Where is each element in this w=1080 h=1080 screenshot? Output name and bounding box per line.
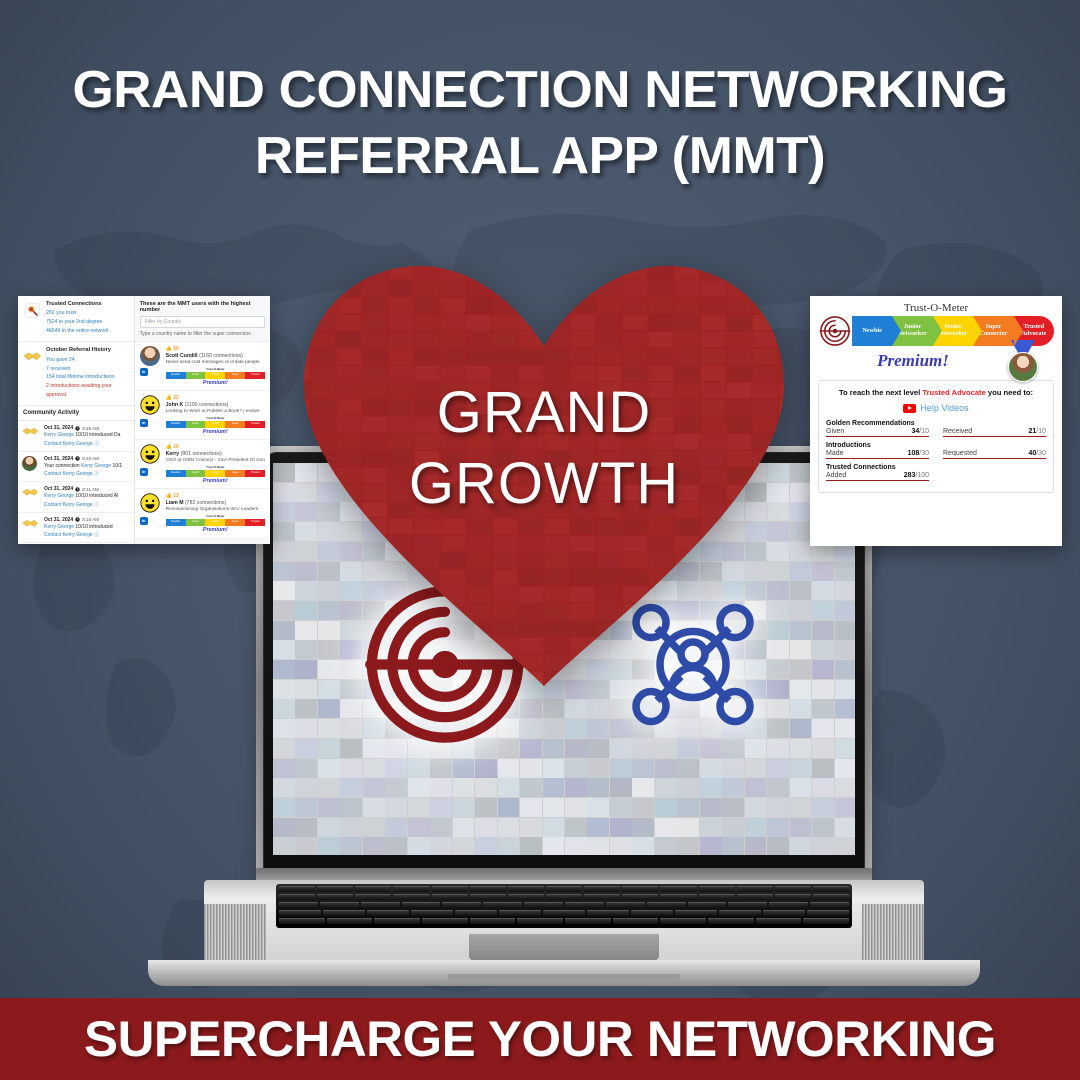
mini-level-segment: Newbie	[166, 372, 186, 379]
app-screenshot-right-trust-o-meter: Trust-O-Meter NewbieJuniorNetworkerSenio…	[810, 296, 1062, 546]
trusted-connections-icon	[22, 301, 42, 336]
mini-level-segment: Senior	[205, 372, 225, 379]
mini-level-segment: Newbie	[166, 421, 186, 428]
laptop-speaker-left	[204, 904, 266, 962]
stat-value: 40/30	[1028, 450, 1046, 457]
activity-text: Your connection Kerry George 10/1	[44, 462, 130, 471]
activity-text: Kerry George 10/10 introduced Al	[44, 492, 130, 501]
laptop-keyboard	[276, 884, 852, 928]
activity-contact-link[interactable]: Contact Kerry George ⓘ	[44, 440, 130, 447]
goal-suffix: you need to:	[986, 388, 1033, 397]
linkedin-icon[interactable]: in	[140, 419, 148, 427]
referral-history-line: 7 received	[46, 365, 130, 374]
super-connector-tagline: Looking to Write or Publish a Book? | ev…	[166, 409, 265, 414]
left-sidebar-column: Trusted Connections 282 you trust 7524 i…	[18, 296, 135, 544]
mini-level-segment: Trusted	[245, 372, 265, 379]
mini-level-segment: Junior	[186, 372, 206, 379]
super-connector-tagline: Never send cold messages or irritate peo…	[166, 360, 265, 365]
activity-contact-link[interactable]: Contact Kerry George ⓘ	[44, 531, 130, 538]
activity-contact-link[interactable]: Contact Kerry George ⓘ	[44, 470, 130, 477]
activity-text: Kerry George 10/10 introduced	[44, 523, 130, 532]
poster-canvas: GRAND CONNECTION NETWORKING REFERRAL APP…	[0, 0, 1080, 1080]
connection-count: (1100 connections)	[185, 402, 229, 408]
super-connector-body: 👍 22John K (1100 connections)Looking to …	[166, 395, 265, 435]
super-connector-item[interactable]: in👍 65Scott Cundill (1160 connections)Ne…	[135, 341, 270, 390]
activity-actor-link[interactable]: Kerry George	[44, 432, 74, 438]
requirement-stat: Given34/10	[826, 428, 929, 437]
avatar	[22, 486, 40, 508]
country-filter-input[interactable]: Filter by Country	[140, 316, 265, 328]
laptop-base	[148, 870, 980, 1000]
referral-history-section: October Referral History You gave 24 7 r…	[18, 342, 134, 406]
stat-value: 108/30	[908, 450, 929, 457]
activity-item[interactable]: Oct 31, 20248:10 AMKerry George 10/10 in…	[18, 513, 134, 544]
trust-level-label-2: Networker	[898, 331, 927, 338]
activity-item[interactable]: Oct 31, 20248:25 AMKerry George 10/10 in…	[18, 421, 134, 452]
super-connector-body: 👍 16Kerry (801 connections)CEO at CIBN C…	[166, 444, 265, 484]
requirement-stat-row: Added283/100	[826, 472, 1046, 481]
mini-level-segment: Trusted	[245, 519, 265, 526]
mini-level-segment: Super	[225, 470, 245, 477]
page-title: GRAND CONNECTION NETWORKING REFERRAL APP…	[0, 58, 1080, 189]
laptop-bottom-lip	[448, 974, 680, 982]
mini-level-segment: Super	[225, 372, 245, 379]
connection-count: (782 connections)	[185, 500, 226, 506]
mini-trust-o-meter: NewbieJuniorSeniorSuperTrusted	[166, 519, 265, 526]
referral-history-line: You gave 24	[46, 356, 130, 365]
referral-history-line: 154 total lifetime introductions	[46, 373, 130, 382]
avatar	[22, 517, 40, 539]
requirement-group-title: Trusted Connections	[826, 464, 1046, 471]
mini-trust-o-meter-label: Trust-O-Meter	[166, 367, 265, 371]
linkedin-icon[interactable]: in	[140, 517, 148, 525]
next-level-goal: To reach the next level Trusted Advocate…	[826, 388, 1046, 397]
avatar: in	[140, 444, 162, 484]
mini-level-segment: Senior	[205, 519, 225, 526]
trusted-connections-line: 46649 in the entire network	[46, 327, 130, 336]
requirement-stat-row: Made108/30Requested40/30	[826, 450, 1046, 459]
mini-level-segment: Junior	[186, 519, 206, 526]
trust-level-label-2: Advocate	[1021, 331, 1046, 338]
super-connector-name: Liam M (782 connections)	[166, 500, 265, 506]
thumbs-up-count: 👍 22	[166, 395, 265, 401]
super-connectors-heading: These are the MMT users with the highest…	[135, 296, 270, 316]
super-connector-name: Kerry (801 connections)	[166, 451, 265, 457]
stat-label: Received	[943, 428, 972, 435]
super-connector-tagline: Revolutionising Organisations thru' Lead…	[166, 507, 265, 512]
activity-item[interactable]: Oct 31, 20248:11 AMKerry George 10/10 in…	[18, 482, 134, 513]
trusted-connections-section: Trusted Connections 282 you trust 7524 i…	[18, 296, 134, 342]
mini-level-segment: Super	[225, 421, 245, 428]
avatar	[1008, 352, 1038, 382]
requirement-group: IntroductionsMade108/30Requested40/30	[826, 442, 1046, 459]
requirement-group: Golden RecommendationsGiven34/10Received…	[826, 420, 1046, 437]
super-connector-item[interactable]: in👍 22John K (1100 connections)Looking t…	[135, 390, 270, 439]
requirement-group-title: Golden Recommendations	[826, 420, 1046, 427]
mini-trust-o-meter-label: Trust-O-Meter	[166, 465, 265, 469]
community-activity-title: Community Activity	[18, 406, 134, 421]
mini-level-segment: Senior	[205, 421, 225, 428]
thumbs-up-count: 👍 16	[166, 444, 265, 450]
mini-trust-o-meter: NewbieJuniorSeniorSuperTrusted	[166, 470, 265, 477]
bottom-banner: SUPERCHARGE YOUR NETWORKING	[0, 998, 1080, 1080]
help-videos-label: Help Videos	[920, 403, 968, 413]
premium-label: Premium!	[166, 380, 265, 386]
super-connectors-list: in👍 65Scott Cundill (1160 connections)Ne…	[135, 341, 270, 537]
laptop-trackpad	[469, 934, 659, 960]
trusted-connections-title: Trusted Connections	[46, 301, 130, 307]
super-connector-body: 👍 13Liam M (782 connections)Revolutionis…	[166, 493, 265, 533]
goal-prefix: To reach the next level	[839, 388, 922, 397]
stat-label: Made	[826, 450, 844, 457]
trust-o-meter-bar: NewbieJuniorNetworkerSeniorNetworkerSupe…	[818, 316, 1054, 346]
mini-level-segment: Newbie	[166, 470, 186, 477]
mini-trust-o-meter-label: Trust-O-Meter	[166, 514, 265, 518]
grand-connection-badge-icon	[818, 315, 852, 347]
super-connectors-column: These are the MMT users with the highest…	[135, 296, 270, 544]
thumbs-up-count: 👍 13	[166, 493, 265, 499]
country-filter-hint: Type a country name to filter the super …	[135, 328, 270, 341]
requirement-stat: Requested40/30	[943, 450, 1046, 459]
stat-label: Added	[826, 472, 846, 479]
requirement-group-title: Introductions	[826, 442, 1046, 449]
stat-value: 34/10	[911, 428, 929, 435]
stat-label: Requested	[943, 450, 977, 457]
app-screenshot-left: Trusted Connections 282 you trust 7524 i…	[18, 296, 270, 544]
activity-actor-link[interactable]: Kerry George	[44, 493, 74, 499]
trust-level-label-2: Connector	[980, 331, 1008, 338]
super-connector-name: John K (1100 connections)	[166, 402, 265, 408]
premium-label: Premium!	[166, 527, 265, 533]
mini-trust-o-meter-label: Trust-O-Meter	[166, 416, 265, 420]
premium-row: Premium!	[818, 346, 1054, 380]
activity-actor-link[interactable]: Kerry George	[44, 524, 74, 530]
stat-value: 283/100	[904, 472, 929, 479]
requirement-stat: Received21/10	[943, 428, 1046, 437]
referral-history-alert[interactable]: 2 introductions awaiting your approval	[46, 382, 130, 400]
hero-line-1: GRAND	[284, 378, 804, 449]
community-activity-list: Oct 31, 20248:25 AMKerry George 10/10 in…	[18, 421, 134, 543]
requirement-stat: Made108/30	[826, 450, 929, 459]
linkedin-icon[interactable]: in	[140, 468, 148, 476]
trust-o-meter-title: Trust-O-Meter	[818, 302, 1054, 314]
activity-info: Oct 31, 20248:11 AMKerry George 10/10 in…	[44, 486, 130, 508]
handshake-icon	[22, 347, 42, 400]
avatar	[22, 456, 40, 478]
mini-level-segment: Junior	[186, 421, 206, 428]
mini-level-segment: Senior	[205, 470, 225, 477]
current-level-marker	[1006, 340, 1040, 384]
super-connector-name: Scott Cundill (1160 connections)	[166, 353, 265, 359]
requirement-stat-row: Given34/10Received21/10	[826, 428, 1046, 437]
laptop-bottom-bar	[148, 960, 980, 986]
page-title-line-1: GRAND CONNECTION NETWORKING	[72, 61, 1007, 119]
activity-contact-link[interactable]: Contact Kerry George ⓘ	[44, 501, 130, 508]
next-level-card: To reach the next level Trusted Advocate…	[818, 380, 1054, 493]
thumbs-up-count: 👍 65	[166, 346, 265, 352]
trusted-connections-line: 282 you trust	[46, 309, 130, 318]
mini-level-segment: Trusted	[245, 470, 265, 477]
stat-label: Given	[826, 428, 844, 435]
premium-label: Premium!	[166, 478, 265, 484]
linkedin-icon[interactable]: in	[140, 368, 148, 376]
activity-info: Oct 31, 20248:25 AMYour connection Kerry…	[44, 456, 130, 478]
requirement-groups: Golden RecommendationsGiven34/10Received…	[826, 420, 1046, 481]
trust-level-label-2: Networker	[939, 331, 968, 338]
mini-level-segment: Junior	[186, 470, 206, 477]
connection-count: (1160 connections)	[199, 353, 243, 359]
trusted-connections-line: 7524 in your 2nd degree	[46, 318, 130, 327]
activity-info: Oct 31, 20248:10 AMKerry George 10/10 in…	[44, 517, 130, 539]
avatar: in	[140, 346, 162, 386]
super-connector-item[interactable]: in👍 16Kerry (801 connections)CEO at CIBN…	[135, 439, 270, 488]
laptop-speaker-right	[862, 904, 924, 962]
mini-trust-o-meter: NewbieJuniorSeniorSuperTrusted	[166, 372, 265, 379]
referral-history-title: October Referral History	[46, 347, 130, 353]
avatar	[22, 425, 40, 447]
mini-trust-o-meter: NewbieJuniorSeniorSuperTrusted	[166, 421, 265, 428]
mini-level-segment: Super	[225, 519, 245, 526]
help-videos-link[interactable]: Help Videos	[826, 403, 1046, 413]
activity-actor-link[interactable]: Kerry George	[81, 463, 111, 469]
trust-level-label: Newbie	[862, 328, 882, 335]
requirement-stat: Added283/100	[826, 472, 929, 481]
activity-text: Kerry George 10/10 introduced Da	[44, 431, 130, 440]
referral-history-body: October Referral History You gave 24 7 r…	[46, 347, 130, 400]
heart-graphic: GRAND GROWTH	[284, 246, 804, 696]
avatar: in	[140, 493, 162, 533]
trusted-connections-body: Trusted Connections 282 you trust 7524 i…	[46, 301, 130, 336]
connection-count: (801 connections)	[181, 451, 222, 457]
super-connector-body: 👍 65Scott Cundill (1160 connections)Neve…	[166, 346, 265, 386]
youtube-icon	[903, 404, 916, 413]
mini-level-segment: Newbie	[166, 519, 186, 526]
page-title-line-2: REFERRAL APP (MMT)	[0, 124, 1080, 190]
hero-line-2: GROWTH	[284, 449, 804, 520]
super-connector-tagline: CEO at CIBN Connect - Vice President Of …	[166, 458, 265, 463]
banner-text: SUPERCHARGE YOUR NETWORKING	[84, 1010, 996, 1068]
trust-level-segment[interactable]: Newbie	[852, 316, 892, 346]
requirement-group: Trusted ConnectionsAdded283/100	[826, 464, 1046, 481]
avatar: in	[140, 395, 162, 435]
hero-text: GRAND GROWTH	[284, 378, 804, 520]
activity-item[interactable]: Oct 31, 20248:25 AMYour connection Kerry…	[18, 452, 134, 483]
premium-label: Premium!	[818, 351, 1008, 371]
stat-value: 21/10	[1028, 428, 1046, 435]
goal-level: Trusted Advocate	[922, 388, 985, 397]
activity-info: Oct 31, 20248:25 AMKerry George 10/10 in…	[44, 425, 130, 447]
mini-level-segment: Trusted	[245, 421, 265, 428]
super-connector-item[interactable]: in👍 13Liam M (782 connections)Revolution…	[135, 488, 270, 537]
premium-label: Premium!	[166, 429, 265, 435]
